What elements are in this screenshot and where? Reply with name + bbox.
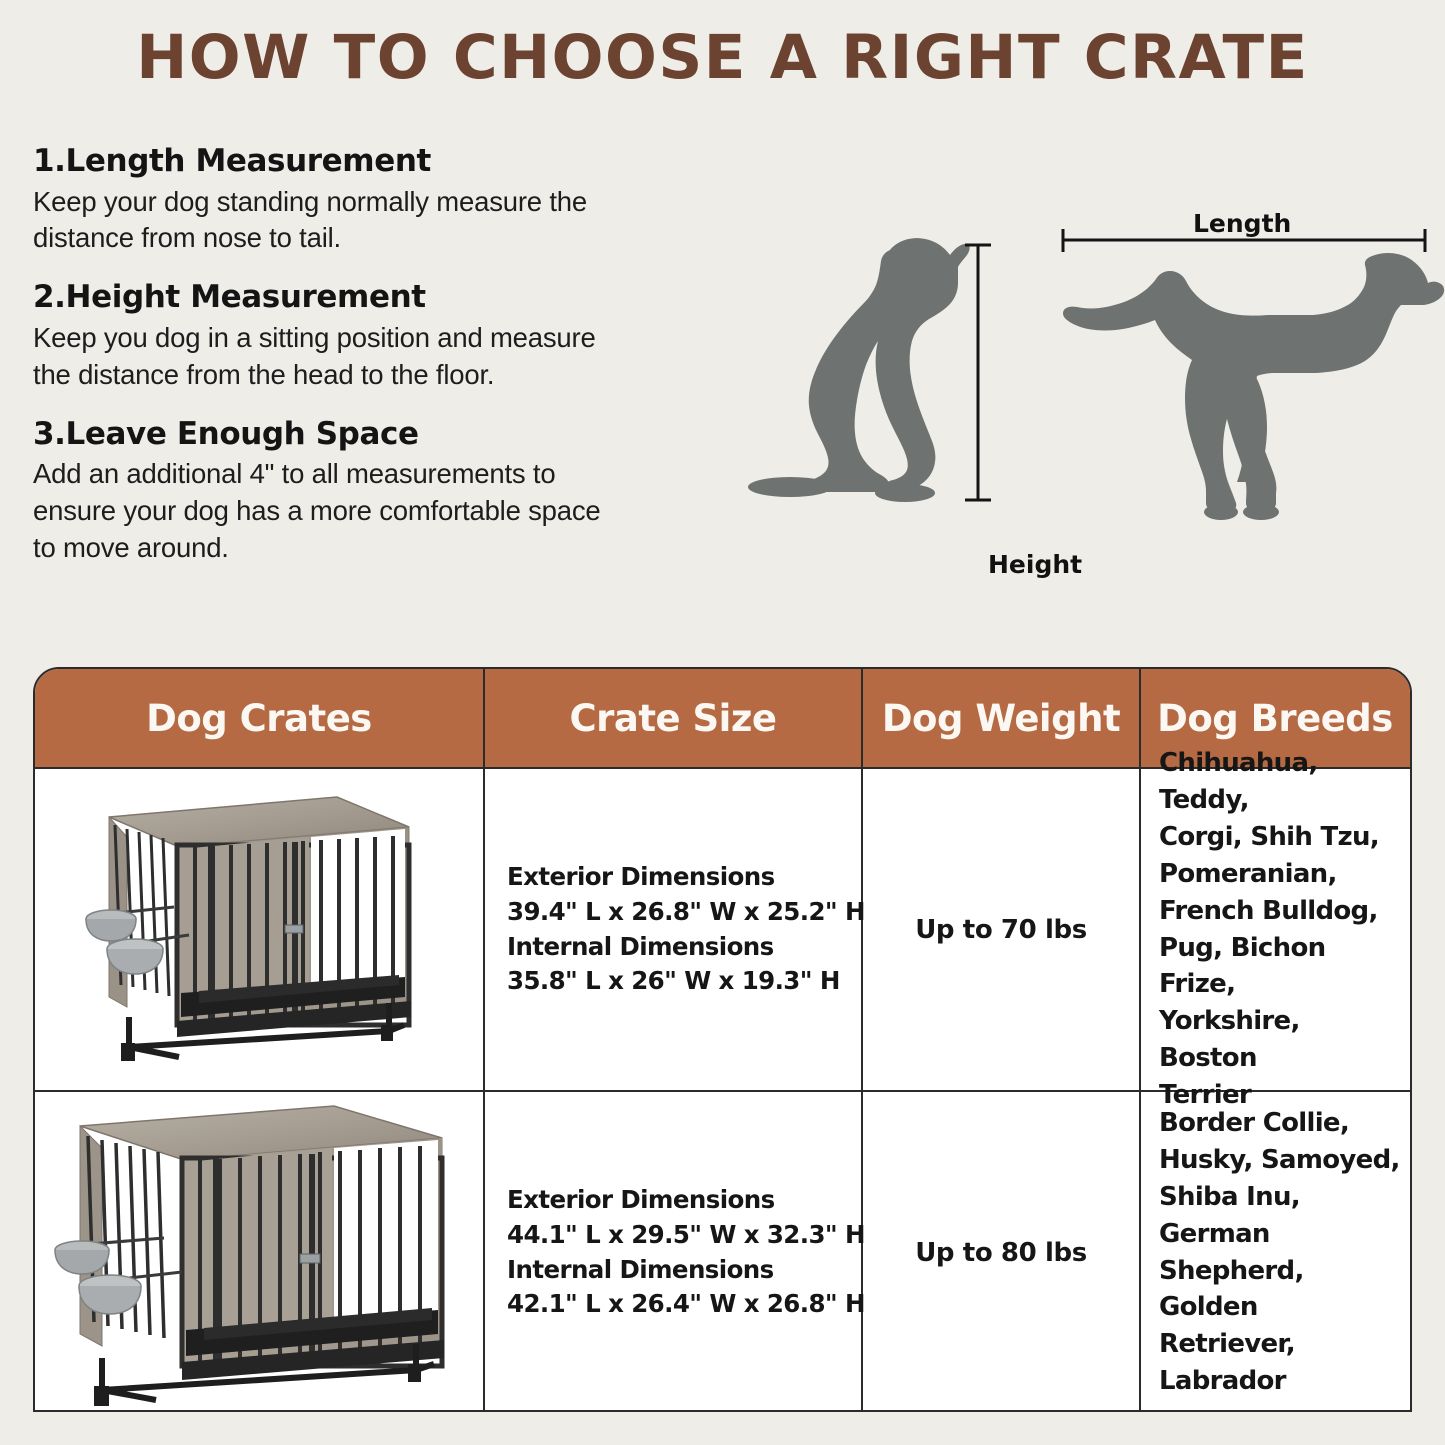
crate-door-latch (300, 1254, 320, 1263)
instruction-list: 1.Length Measurement Keep your dog stand… (33, 143, 753, 589)
sitting-dog-rear (748, 477, 832, 497)
dog-weight-value: Up to 80 lbs (915, 1238, 1087, 1268)
height-dimension-line (965, 245, 991, 500)
breed-line-3: Pomeranian, (1159, 856, 1401, 893)
column-header-dog-weight: Dog Weight (863, 669, 1141, 767)
step-3-line-2: ensure your dog has a more comfortable s… (33, 493, 753, 530)
standing-dog-paw-rear2 (1204, 504, 1238, 520)
crate-bowls (86, 907, 189, 974)
breed-line-5: Shepherd, (1159, 1253, 1401, 1290)
infographic-page: HOW TO CHOOSE A RIGHT CRATE 1.Length Mea… (0, 0, 1445, 1445)
sitting-dog-icon (748, 238, 970, 502)
step-3-line-3: to move around. (33, 530, 753, 567)
dog-weight-cell: Up to 70 lbs (863, 769, 1141, 1090)
dog-measurement-diagram: Height Length (715, 195, 1445, 545)
size-line-1: Exterior Dimensions (507, 860, 865, 895)
breed-line-5: Pug, Bichon Frize, (1159, 930, 1401, 1004)
size-line-3: Internal Dimensions (507, 1253, 865, 1288)
instruction-step-2: 2.Height Measurement Keep you dog in a s… (33, 279, 753, 393)
dog-breeds-cell: Border Collie, Husky, Samoyed, Shiba Inu… (1141, 1092, 1409, 1412)
dog-silhouettes-svg (715, 195, 1445, 545)
instruction-step-3: 3.Leave Enough Space Add an additional 4… (33, 416, 753, 567)
height-label: Height (988, 550, 1082, 579)
breed-line-3: Shiba Inu, (1159, 1179, 1401, 1216)
step-2-body: Keep you dog in a sitting position and m… (33, 320, 753, 394)
crate-comparison-table: Dog Crates Crate Size Dog Weight Dog Bre… (33, 667, 1412, 1412)
instruction-step-1: 1.Length Measurement Keep your dog stand… (33, 143, 753, 257)
breed-line-2: Corgi, Shih Tzu, (1159, 819, 1401, 856)
dog-weight-cell: Up to 80 lbs (863, 1092, 1141, 1412)
step-3-body: Add an additional 4" to all measurements… (33, 456, 753, 567)
step-1-line-2: distance from nose to tail. (33, 220, 753, 257)
breed-line-6: Yorkshire, Boston (1159, 1003, 1401, 1077)
crate-image-cell (35, 769, 485, 1090)
step-2-line-1: Keep you dog in a sitting position and m… (33, 320, 753, 357)
size-line-4: 35.8" L x 26" W x 19.3" H (507, 964, 865, 999)
length-label: Length (1193, 209, 1291, 238)
crate-door-latch (285, 925, 303, 933)
size-line-2: 39.4" L x 26.8" W x 25.2" H (507, 895, 865, 930)
table-row: Exterior Dimensions 39.4" L x 26.8" W x … (35, 769, 1410, 1092)
standing-dog-paw-rear (1243, 504, 1279, 520)
dog-breeds-list: Chihuahua, Teddy, Corgi, Shih Tzu, Pomer… (1159, 745, 1401, 1114)
step-2-heading: 2.Height Measurement (33, 279, 753, 316)
breed-line-4: French Bulldog, (1159, 893, 1401, 930)
standing-dog-icon (1063, 253, 1444, 520)
step-1-heading: 1.Length Measurement (33, 143, 753, 180)
dog-breeds-cell: Chihuahua, Teddy, Corgi, Shih Tzu, Pomer… (1141, 769, 1409, 1090)
column-header-crate-size: Crate Size (485, 669, 863, 767)
column-header-dog-crates: Dog Crates (35, 669, 485, 767)
page-title: HOW TO CHOOSE A RIGHT CRATE (0, 22, 1445, 93)
size-line-4: 42.1" L x 26.4" W x 26.8" H (507, 1287, 865, 1322)
crate-image-cell (35, 1092, 485, 1412)
dog-crate-image-small (59, 785, 459, 1075)
breed-line-2: Husky, Samoyed, (1159, 1142, 1401, 1179)
size-line-2: 44.1" L x 29.5" W x 32.3" H (507, 1218, 865, 1253)
step-3-line-1: Add an additional 4" to all measurements… (33, 456, 753, 493)
crate-size-text: Exterior Dimensions 44.1" L x 29.5" W x … (507, 1183, 865, 1322)
step-2-line-2: the distance from the head to the floor. (33, 357, 753, 394)
step-1-line-1: Keep your dog standing normally measure … (33, 184, 753, 221)
breed-line-7: Labrador (1159, 1363, 1401, 1400)
step-1-body: Keep your dog standing normally measure … (33, 184, 753, 258)
crate-size-cell: Exterior Dimensions 39.4" L x 26.8" W x … (485, 769, 863, 1090)
sitting-dog-paw (875, 484, 935, 502)
breed-line-6: Golden Retriever, (1159, 1289, 1401, 1363)
dog-crate-image-large (44, 1098, 474, 1408)
crate-size-cell: Exterior Dimensions 44.1" L x 29.5" W x … (485, 1092, 863, 1412)
dog-breeds-list: Border Collie, Husky, Samoyed, Shiba Inu… (1159, 1105, 1401, 1400)
crate-size-text: Exterior Dimensions 39.4" L x 26.8" W x … (507, 860, 865, 999)
breed-line-4: German (1159, 1216, 1401, 1253)
size-line-1: Exterior Dimensions (507, 1183, 865, 1218)
breed-line-1: Border Collie, (1159, 1105, 1401, 1142)
breed-line-1: Chihuahua, Teddy, (1159, 745, 1401, 819)
step-3-heading: 3.Leave Enough Space (33, 416, 753, 453)
dog-weight-value: Up to 70 lbs (915, 915, 1087, 945)
table-row: Exterior Dimensions 44.1" L x 29.5" W x … (35, 1092, 1410, 1412)
size-line-3: Internal Dimensions (507, 930, 865, 965)
